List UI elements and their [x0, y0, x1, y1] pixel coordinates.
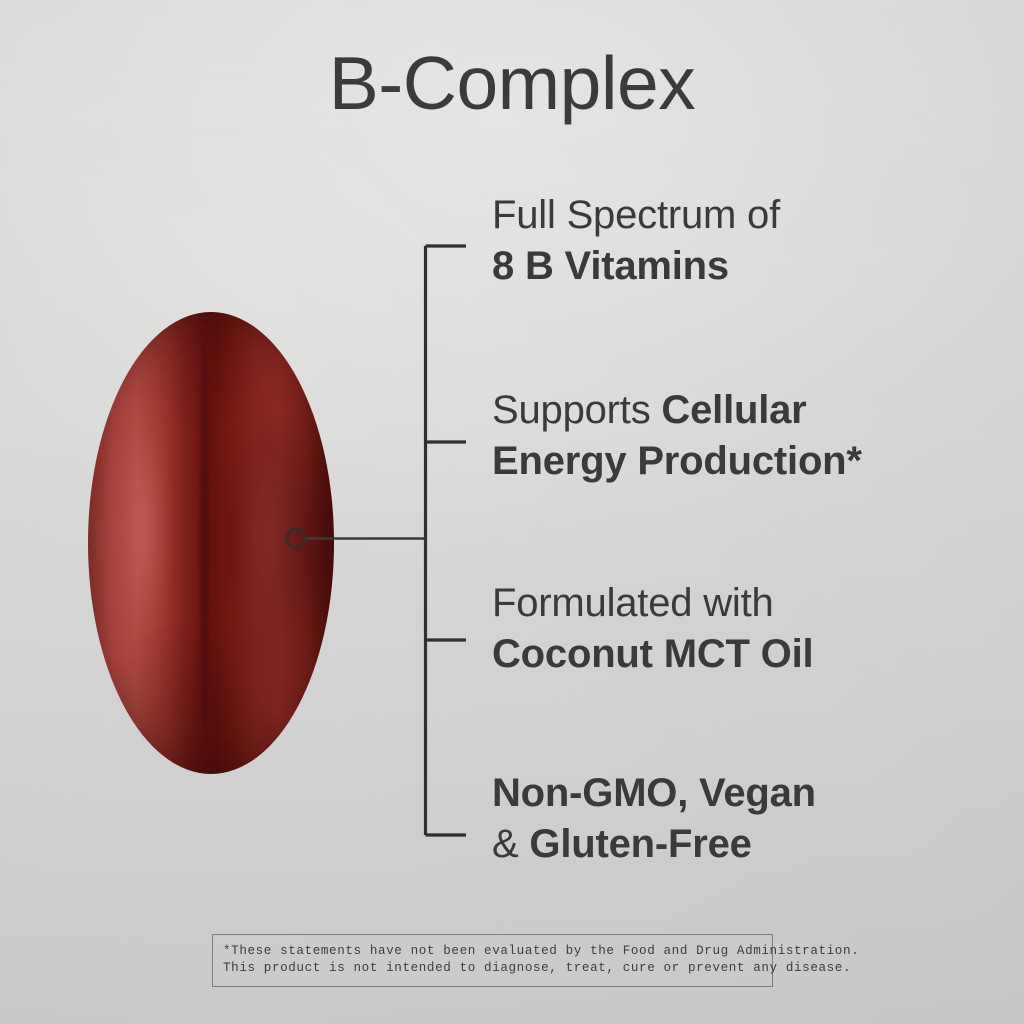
feature-coconut-mct-oil: Formulated with Coconut MCT Oil: [492, 578, 962, 680]
feature-line-1: Full Spectrum of: [492, 190, 962, 241]
feature-cellular-energy: Supports Cellular Energy Production*: [492, 385, 962, 487]
feature-line-2-lead: &: [492, 822, 529, 866]
softgel-highlight-right: [238, 398, 294, 678]
feature-line-1-lead: Supports: [492, 388, 661, 432]
disclaimer-line-2: This product is not intended to diagnose…: [223, 960, 762, 977]
page-title: B-Complex: [0, 46, 1024, 121]
feature-line-1: Formulated with: [492, 578, 962, 629]
softgel-body: [88, 312, 334, 774]
feature-line-1: Non-GMO, Vegan: [492, 768, 962, 819]
feature-line-2: Energy Production*: [492, 436, 962, 487]
product-infographic: B-Complex Full Spectrum of: [0, 0, 1024, 1024]
feature-line-2-strong: Gluten-Free: [529, 822, 751, 866]
feature-line-2: 8 B Vitamins: [492, 241, 962, 292]
feature-line-2: & Gluten-Free: [492, 819, 962, 870]
softgel-capsule-image: [88, 312, 340, 780]
feature-line-2: Coconut MCT Oil: [492, 629, 962, 680]
softgel-highlight-left: [114, 364, 176, 694]
fda-disclaimer: *These statements have not been evaluate…: [212, 934, 773, 987]
feature-non-gmo-vegan-gluten-free: Non-GMO, Vegan & Gluten-Free: [492, 768, 962, 870]
feature-line-1-strong: Cellular: [661, 388, 806, 432]
disclaimer-line-1: *These statements have not been evaluate…: [223, 943, 762, 960]
feature-line-1: Supports Cellular: [492, 385, 962, 436]
softgel-seam-line: [200, 330, 209, 756]
feature-full-spectrum: Full Spectrum of 8 B Vitamins: [492, 190, 962, 292]
